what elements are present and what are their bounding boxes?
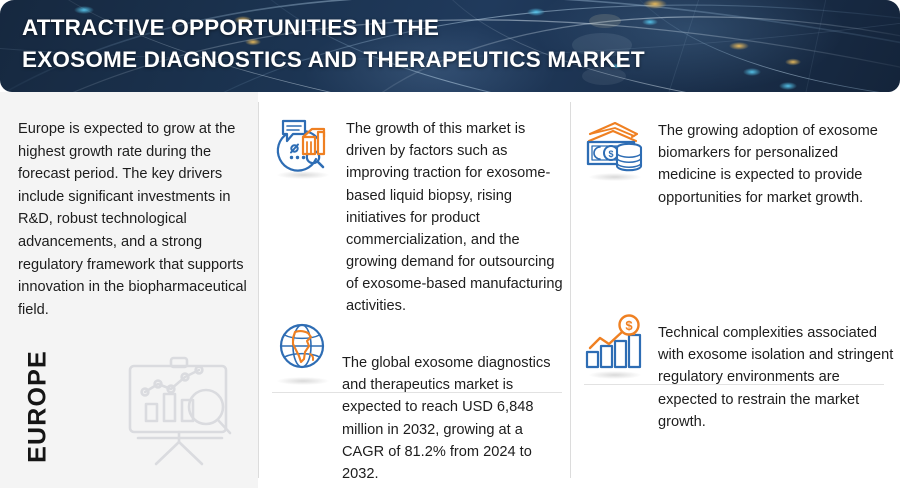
growth-chart-coin-icon: $ (578, 308, 650, 380)
icon-container: $ (578, 308, 650, 380)
left-region-panel: Europe is expected to grow at the highes… (0, 92, 258, 488)
header-banner: ATTRACTIVE OPPORTUNITIES IN THE EXOSOME … (0, 0, 900, 92)
card-market-size-forecast: The global exosome diagnostics and thera… (266, 314, 566, 485)
icon-container (266, 314, 338, 386)
market-analysis-icon (266, 108, 338, 180)
content-area: Europe is expected to grow at the highes… (0, 92, 900, 488)
card-text: The growing adoption of exosome biomarke… (658, 110, 894, 209)
card-market-opportunity: $ The growing adoption of exosome biomar… (578, 110, 894, 209)
svg-text:$: $ (608, 149, 613, 159)
region-label-europe: EUROPE (24, 347, 53, 467)
title-line-2: EXOSOME DIAGNOSTICS AND THERAPEUTICS MAR… (22, 44, 742, 76)
icon-container (266, 108, 338, 180)
money-coins-icon: $ (578, 110, 650, 182)
europe-description: Europe is expected to grow at the highes… (18, 118, 250, 321)
card-text: The global exosome diagnostics and thera… (342, 314, 566, 485)
page-title: ATTRACTIVE OPPORTUNITIES IN THE EXOSOME … (22, 12, 742, 76)
card-market-growth-drivers: The growth of this market is driven by f… (266, 108, 566, 318)
icon-shadow (277, 377, 329, 385)
card-text: The growth of this market is driven by f… (346, 108, 566, 318)
globe-icon (266, 314, 338, 386)
icon-container: $ (578, 110, 650, 182)
presentation-chart-magnifier-icon (114, 350, 246, 470)
title-line-1: ATTRACTIVE OPPORTUNITIES IN THE (22, 12, 742, 44)
icon-shadow (589, 371, 641, 379)
column-divider-right (570, 102, 571, 478)
card-text: Technical complexities associated with e… (658, 308, 894, 433)
svg-text:$: $ (625, 318, 633, 333)
icon-shadow (277, 171, 329, 179)
card-market-restraint: $ Technical complexities associated with… (578, 308, 894, 433)
infographic-root: ATTRACTIVE OPPORTUNITIES IN THE EXOSOME … (0, 0, 900, 488)
icon-shadow (589, 173, 641, 181)
column-divider-left (258, 102, 259, 478)
